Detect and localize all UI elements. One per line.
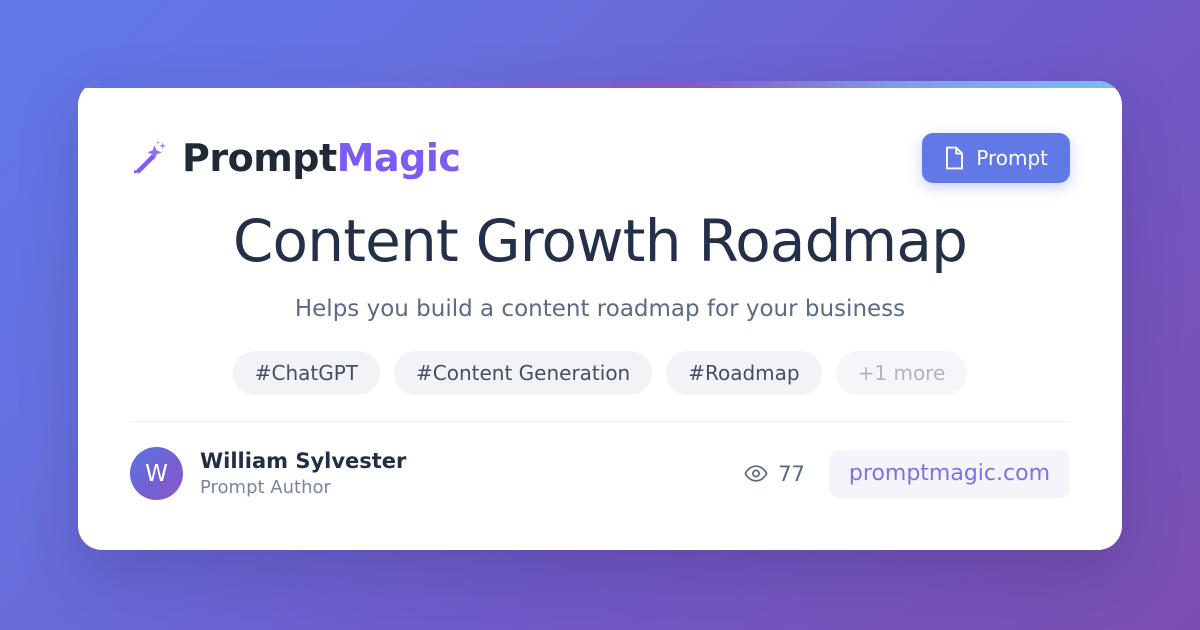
page-title: Content Growth Roadmap xyxy=(130,209,1070,274)
document-icon xyxy=(944,146,965,170)
brand-name-part2: Magic xyxy=(337,136,461,180)
card-header: PromptMagic Prompt xyxy=(130,129,1070,187)
prompt-button-label: Prompt xyxy=(976,146,1048,170)
tag-chip[interactable]: #Content Generation xyxy=(394,351,652,395)
eye-icon xyxy=(744,465,768,482)
card-body: PromptMagic Prompt Content Growth Roadma… xyxy=(78,81,1122,550)
site-badge[interactable]: promptmagic.com xyxy=(829,450,1070,498)
card-accent-bar xyxy=(78,81,1122,88)
brand-name: PromptMagic xyxy=(182,139,460,177)
tag-list: #ChatGPT #Content Generation #Roadmap +1… xyxy=(130,351,1070,395)
magic-wand-icon xyxy=(130,139,168,177)
tag-chip[interactable]: #Roadmap xyxy=(666,351,821,395)
brand-logo[interactable]: PromptMagic xyxy=(130,139,460,177)
prompt-card: PromptMagic Prompt Content Growth Roadma… xyxy=(78,81,1122,550)
tag-chip-more[interactable]: +1 more xyxy=(836,351,968,395)
tag-chip[interactable]: #ChatGPT xyxy=(233,351,380,395)
prompt-button[interactable]: Prompt xyxy=(922,133,1070,183)
page-subtitle: Helps you build a content roadmap for yo… xyxy=(130,295,1070,325)
author-role: Prompt Author xyxy=(200,477,406,499)
author-meta: William Sylvester Prompt Author xyxy=(200,449,406,499)
author-name: William Sylvester xyxy=(200,449,406,474)
brand-name-part1: Prompt xyxy=(182,136,337,180)
avatar: W xyxy=(130,447,183,500)
footer-right: 77 promptmagic.com xyxy=(744,450,1070,498)
view-count-value: 77 xyxy=(778,462,805,486)
card-main: Content Growth Roadmap Helps you build a… xyxy=(130,187,1070,396)
og-image-canvas: PromptMagic Prompt Content Growth Roadma… xyxy=(0,0,1200,630)
view-count: 77 xyxy=(744,462,805,486)
card-footer: W William Sylvester Prompt Author xyxy=(130,422,1070,500)
author-block[interactable]: W William Sylvester Prompt Author xyxy=(130,447,406,500)
